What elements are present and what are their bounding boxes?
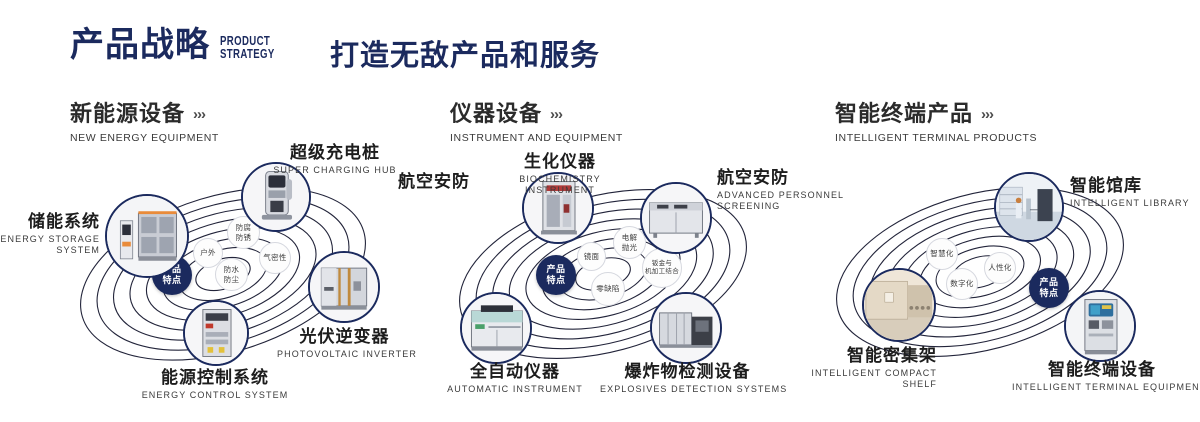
product-node-intelligent-terminal-equipment[interactable] (1064, 290, 1136, 362)
product-node-intelligent-compact-shelf[interactable] (862, 268, 936, 342)
product-node-intelligent-library[interactable] (994, 172, 1064, 242)
feature-bubble: 零缺陷 (591, 272, 625, 306)
advanced-personnel-screening-photo (642, 184, 710, 252)
chevron-right-icons: ››› (550, 106, 562, 123)
intelligent-library-photo (996, 174, 1062, 240)
product-label-energy-storage-system: 储能系统 ENERGY STORAGE SYSTEM (0, 212, 100, 256)
feature-bubble: 镜面 (577, 242, 606, 271)
feature-bubble: 防水 防尘 (215, 258, 248, 291)
feature-bubble: 人性化 (984, 252, 1016, 284)
intelligent-terminal-equipment-photo (1066, 292, 1134, 360)
product-label-energy-control-system: 能源控制系统 ENERGY CONTROL SYSTEM (90, 368, 340, 401)
section-title-cn: 仪器设备››› (450, 96, 623, 128)
product-node-explosives-detection-systems[interactable] (650, 292, 722, 364)
page-subtitle: 打造无敌产品和服务 (330, 32, 600, 74)
energy-control-system-photo (185, 302, 247, 364)
product-node-photovoltaic-inverter[interactable] (308, 251, 380, 323)
product-node-advanced-personnel-screening[interactable] (640, 182, 712, 254)
product-label-photovoltaic-inverter: 光伏逆变器 PHOTOVOLTAIC INVERTER (277, 327, 412, 360)
product-node-energy-storage-system[interactable] (105, 194, 189, 278)
product-node-automatic-instrument[interactable] (460, 292, 532, 364)
poster-header: 产品战略 PRODUCT STRATEGY (70, 28, 294, 62)
intelligent-compact-shelf-photo (864, 270, 934, 340)
product-node-energy-control-system[interactable] (183, 300, 249, 366)
section-title-instrument: 仪器设备››› INSTRUMENT AND EQUIPMENT (450, 96, 623, 144)
page-title-english: PRODUCT STRATEGY (220, 34, 275, 61)
automatic-instrument-photo (462, 294, 530, 362)
cluster-instrument: 产品 特点 镜面 电解 抛光 钣金与 机加工结合 零缺陷 生化仪器 BIOCHE… (425, 150, 825, 400)
product-label-biochemistry-instrument: 生化仪器 BIOCHEMISTRY INSTRUMENT (485, 152, 635, 196)
page-title-english-line2: STRATEGY (220, 47, 275, 60)
feature-bubble-primary: 产品 特点 (536, 255, 576, 295)
page-title: 产品战略 (70, 28, 210, 62)
photovoltaic-inverter-photo (310, 253, 378, 321)
section-title-en: NEW ENERGY EQUIPMENT (70, 132, 219, 144)
product-label-intelligent-terminal-equipment: 智能终端设备 INTELLIGENT TERMINAL EQUIPMENT (1012, 360, 1192, 393)
section-title-new-energy: 新能源设备››› NEW ENERGY EQUIPMENT (70, 96, 219, 144)
section-title-cn: 新能源设备››› (70, 96, 219, 128)
product-label-automatic-instrument: 全自动仪器 AUTOMATIC INSTRUMENT (420, 362, 610, 395)
product-label-intelligent-library: 智能馆库 INTELLIGENT LIBRARY (1070, 176, 1200, 209)
page-title-english-line1: PRODUCT (220, 34, 275, 47)
energy-storage-system-photo (107, 196, 187, 276)
product-label-intelligent-compact-shelf: 智能密集架 INTELLIGENT COMPACT SHELF (782, 346, 937, 390)
product-label-aviation-security: 航空安防 (365, 172, 470, 192)
section-title-en: INTELLIGENT TERMINAL PRODUCTS (835, 132, 1037, 144)
feature-bubble-primary: 产品 特点 (1029, 268, 1069, 308)
poster-canvas: 产品战略 PRODUCT STRATEGY 打造无敌产品和服务 新能源设备›››… (0, 0, 1200, 422)
chevron-right-icons: ››› (981, 106, 993, 123)
feature-bubble: 气密性 (259, 242, 291, 274)
product-label-explosives-detection-systems: 爆炸物检测设备 EXPLOSIVES DETECTION SYSTEMS (600, 362, 775, 395)
cluster-intelligent-terminal: 智慧化 数字化 人性化 产品 特点 智能馆库 I (812, 150, 1200, 400)
section-title-cn: 智能终端产品››› (835, 96, 1037, 128)
feature-bubble: 数字化 (946, 268, 978, 300)
explosives-detection-systems-photo (652, 294, 720, 362)
feature-bubble: 钣金与 机加工结合 (642, 248, 682, 288)
section-title-en: INSTRUMENT AND EQUIPMENT (450, 132, 623, 144)
product-label-super-charging-hub: 超级充电桩 SUPER CHARGING HUB (245, 143, 425, 176)
feature-bubble: 智慧化 (926, 238, 958, 270)
chevron-right-icons: ››› (193, 106, 205, 123)
section-title-intelligent-terminal: 智能终端产品››› INTELLIGENT TERMINAL PRODUCTS (835, 96, 1037, 144)
